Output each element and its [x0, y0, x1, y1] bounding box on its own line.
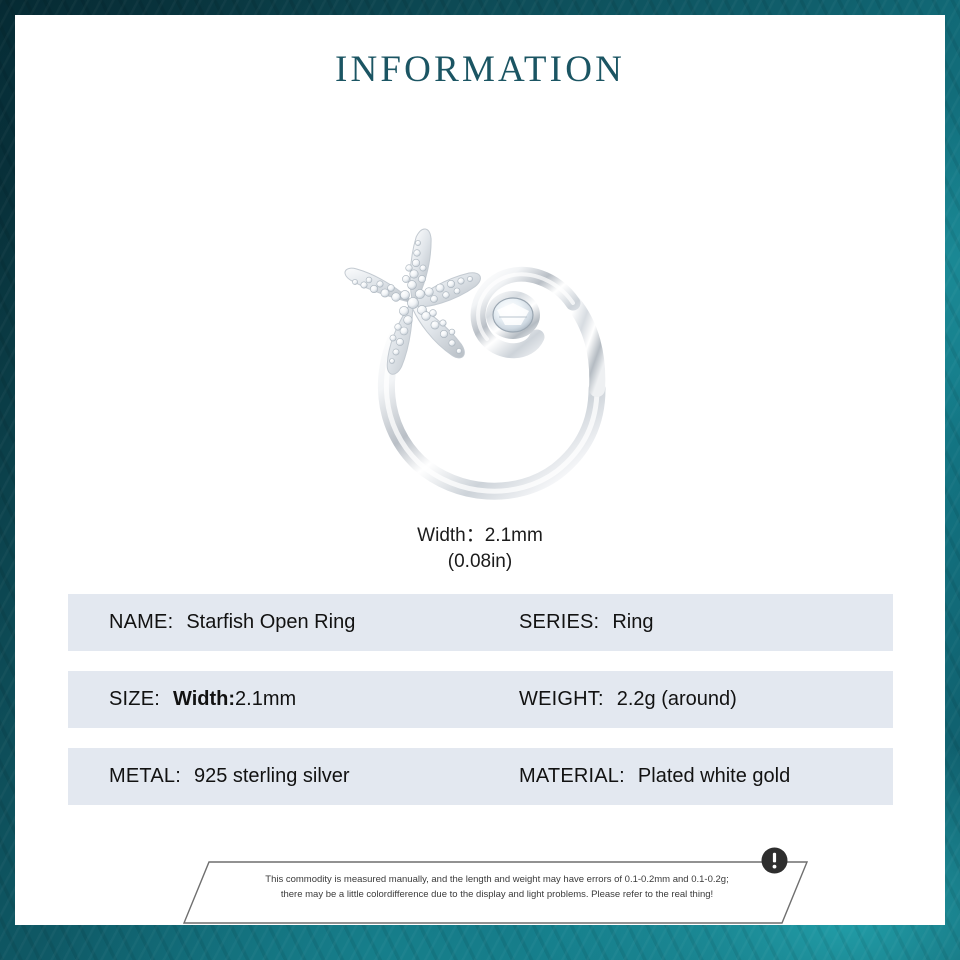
page-title: INFORMATION [15, 48, 945, 91]
spec-value-metal: 925 sterling silver [194, 765, 350, 788]
spec-cell-material: MATERIAL: Plated white gold [519, 748, 790, 805]
spec-value-material: Plated white gold [638, 765, 790, 788]
spec-cell-name: NAME: Starfish Open Ring [109, 594, 355, 651]
spec-value-size-prefix: Width: [173, 688, 235, 710]
table-row: METAL: 925 sterling silver MATERIAL: Pla… [68, 748, 893, 805]
spec-label-name: NAME: [109, 611, 173, 634]
spec-cell-weight: WEIGHT: 2.2g (around) [519, 671, 737, 728]
width-caption-line1: Width：2.1mm [15, 523, 945, 549]
spec-value-size: Width:2.1mm [173, 688, 296, 711]
starfish-open-ring-photo [285, 175, 685, 515]
spec-label-series: SERIES: [519, 611, 599, 634]
spec-cell-series: SERIES: Ring [519, 594, 653, 651]
product-info-card-page: INFORMATION [0, 0, 960, 960]
spec-cell-metal: METAL: 925 sterling silver [109, 748, 350, 805]
spec-value-name: Starfish Open Ring [186, 611, 355, 634]
disclaimer-line1: This commodity is measured manually, and… [227, 872, 767, 887]
disclaimer-banner: This commodity is measured manually, and… [183, 860, 808, 925]
spec-label-material: MATERIAL: [519, 765, 625, 788]
disclaimer-text: This commodity is measured manually, and… [227, 872, 767, 902]
spec-cell-size: SIZE: Width:2.1mm [109, 671, 296, 728]
spec-value-series: Ring [612, 611, 653, 634]
specification-table: NAME: Starfish Open Ring SERIES: Ring SI… [68, 594, 893, 825]
exclamation-circle-icon [761, 847, 788, 874]
width-caption-line2: (0.08in) [15, 549, 945, 575]
width-caption: Width：2.1mm (0.08in) [15, 523, 945, 575]
table-row: NAME: Starfish Open Ring SERIES: Ring [68, 594, 893, 651]
spec-label-weight: WEIGHT: [519, 688, 604, 711]
disclaimer-line2: there may be a little colordifference du… [227, 887, 767, 902]
spec-value-size-number: 2.1mm [235, 688, 296, 710]
white-card: INFORMATION [15, 15, 945, 925]
table-row: SIZE: Width:2.1mm WEIGHT: 2.2g (around) [68, 671, 893, 728]
spec-value-weight: 2.2g (around) [617, 688, 737, 711]
spec-label-size: SIZE: [109, 688, 160, 711]
spec-label-metal: METAL: [109, 765, 181, 788]
